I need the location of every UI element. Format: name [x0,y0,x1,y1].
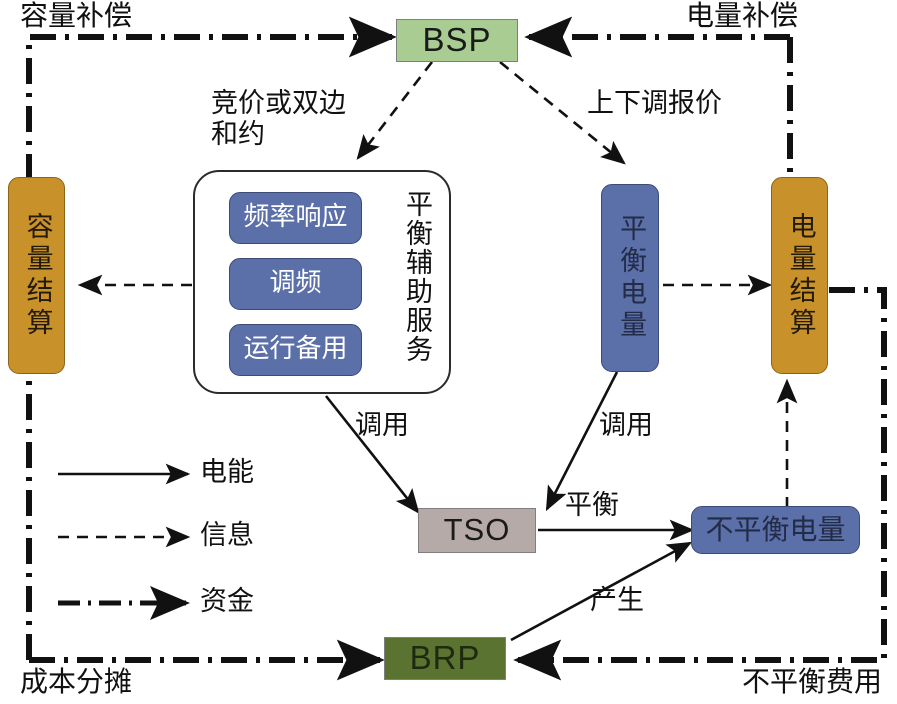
node-imbalance-energy-label: 不平衡电量 [705,515,845,544]
label-cost-sharing: 成本分摊 [20,666,132,698]
node-bsp[interactable]: BSP [396,19,518,62]
legend-item-label-2: 资金 [200,586,254,617]
label-capacity-compensation: 容量补偿 [20,0,132,32]
node-frequency-regulation[interactable]: 调频 [229,258,362,310]
node-bsp-label: BSP [422,23,491,58]
legend-item-label-0: 电能 [200,457,254,488]
node-energy-settlement[interactable]: 电量结算 [771,177,828,374]
diagram-canvas: 平衡辅助服务 BSP BRP TSO 容量结算 电量结算 平衡电量 不平衡电量 … [0,0,897,704]
label-energy-compensation: 电量补偿 [686,0,798,32]
edge-imbalance-charge [518,290,884,660]
node-frequency-response-label: 频率响应 [243,204,347,231]
node-brp-label: BRP [410,641,481,676]
edge-bid-or-bilateral [358,62,432,158]
balancing-ancillary-services-text: 平衡辅助服务 [403,190,430,364]
balancing-ancillary-services-label: 平衡辅助服务 [403,190,437,380]
label-bid-or-bilateral: 竞价或双边 和约 [211,88,346,151]
label-produce: 产生 [590,585,644,616]
node-capacity-settlement[interactable]: 容量结算 [8,177,65,374]
node-energy-settlement-label: 电量结算 [785,212,813,340]
node-frequency-response[interactable]: 频率响应 [229,192,362,244]
legend-item-label-1: 信息 [200,520,254,551]
node-tso-label: TSO [444,514,511,547]
node-brp[interactable]: BRP [384,637,506,680]
node-operating-reserve-label: 运行备用 [243,336,347,363]
node-operating-reserve[interactable]: 运行备用 [229,324,362,376]
label-up-down-bid: 上下调报价 [587,88,722,119]
node-capacity-settlement-label: 容量结算 [22,212,50,340]
label-imbalance-charge: 不平衡费用 [742,666,882,698]
node-balance-energy-label: 平衡电量 [616,214,644,342]
label-balance: 平衡 [565,490,619,521]
label-dispatch-right: 调用 [599,410,653,441]
node-tso[interactable]: TSO [418,508,536,553]
label-dispatch-left: 调用 [355,410,409,441]
node-balance-energy[interactable]: 平衡电量 [601,184,659,372]
node-imbalance-energy[interactable]: 不平衡电量 [691,506,860,554]
node-frequency-regulation-label: 调频 [269,270,321,297]
